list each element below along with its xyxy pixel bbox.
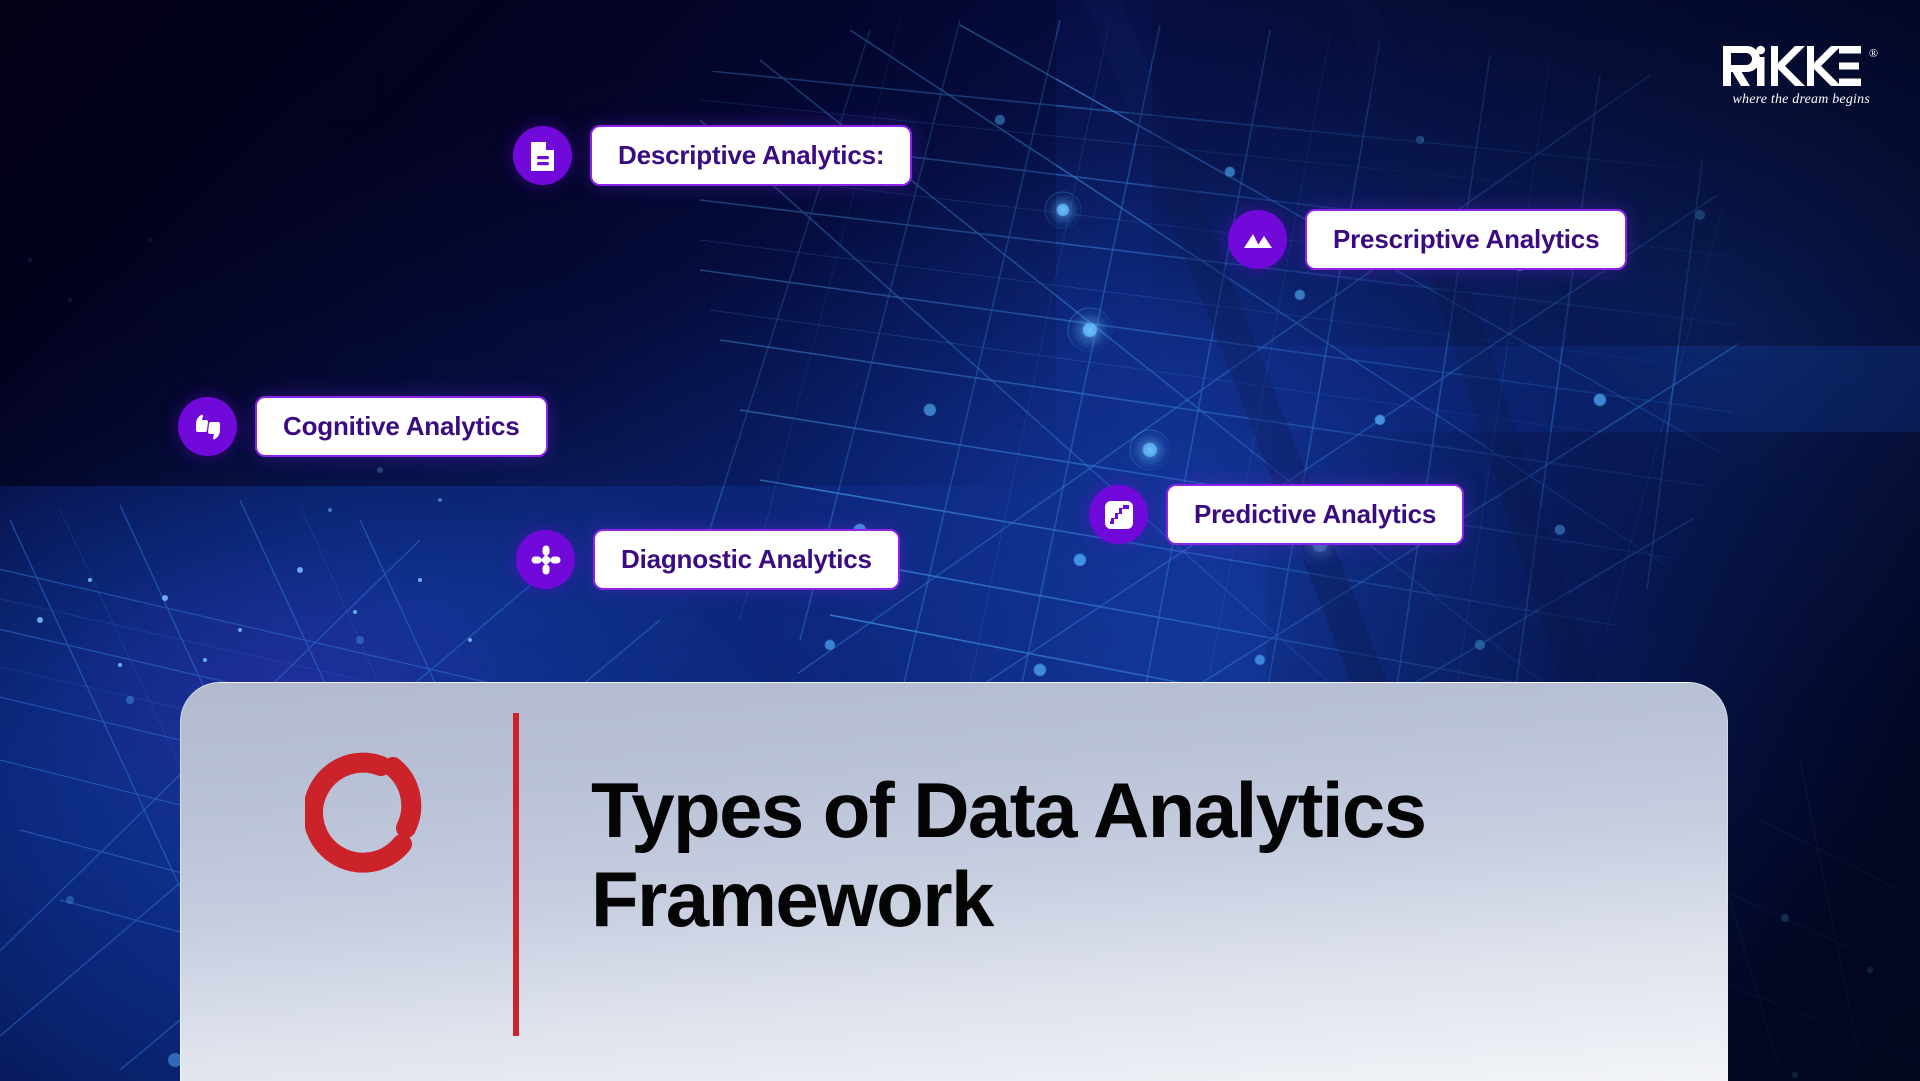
chip-label: Descriptive Analytics:	[590, 125, 912, 186]
chip-prescriptive-analytics[interactable]: Prescriptive Analytics	[1228, 209, 1627, 270]
chip-cognitive-analytics[interactable]: Cognitive Analytics	[178, 396, 548, 457]
chip-descriptive-analytics[interactable]: Descriptive Analytics:	[513, 125, 912, 186]
stairs-steps-icon	[1089, 485, 1148, 544]
chip-predictive-analytics[interactable]: Predictive Analytics	[1089, 484, 1464, 545]
brand-wordmark-row: ®	[1721, 44, 1878, 88]
rikkei-brand-logo: ® where the dream begins	[1721, 44, 1878, 108]
chip-label: Diagnostic Analytics	[593, 529, 900, 590]
chip-diagnostic-analytics[interactable]: Diagnostic Analytics	[516, 529, 900, 590]
chip-label: Prescriptive Analytics	[1305, 209, 1627, 270]
page-title: Types of Data Analytics Framework	[591, 766, 1471, 944]
image-mountains-icon	[1228, 210, 1287, 269]
split-ring-logo-icon	[265, 743, 475, 873]
brand-tagline: where the dream begins	[1732, 92, 1870, 108]
rikkei-wordmark-icon	[1721, 44, 1865, 88]
chip-label: Predictive Analytics	[1166, 484, 1464, 545]
chip-label: Cognitive Analytics	[255, 396, 548, 457]
registered-trademark-symbol: ®	[1869, 46, 1878, 61]
document-icon	[513, 126, 572, 185]
thumbs-updown-icon	[178, 397, 237, 456]
title-panel: Types of Data Analytics Framework	[180, 682, 1728, 1081]
four-petal-cluster-icon	[516, 530, 575, 589]
red-vertical-divider	[513, 713, 519, 1036]
